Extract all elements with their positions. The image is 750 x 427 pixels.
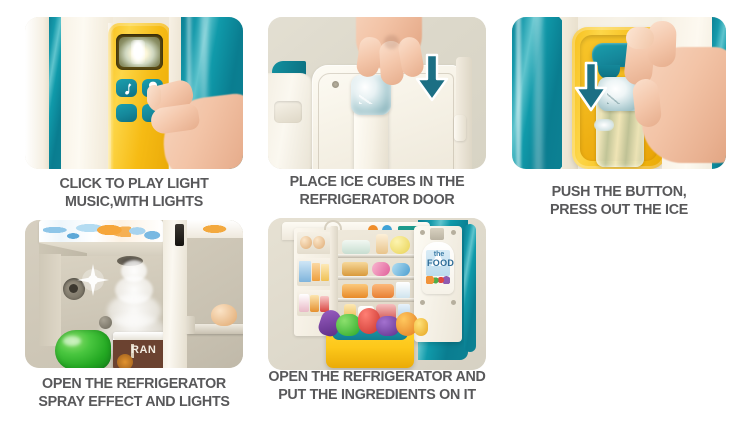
toy-juice-box [312, 263, 320, 281]
right-shelf [187, 324, 243, 334]
feature-collage-sheet: CLICK TO PLAY LIGHT MUSIC,WITH LIGHTS [0, 0, 750, 427]
hand-pressing-button [123, 79, 243, 169]
panel-caption: OPEN THE REFRIGERATOR AND PUT THE INGRED… [260, 368, 495, 403]
toy-green-pepper [55, 330, 111, 368]
shelf-bracket [185, 316, 195, 334]
door-bin-2 [297, 258, 331, 286]
door-left-latch [274, 101, 302, 123]
door-screw [332, 81, 339, 88]
fridge-teal-door-left [512, 17, 566, 169]
toy-yogurt [299, 294, 309, 312]
toy-orange-box [342, 284, 368, 298]
door-screw-tl [420, 230, 425, 235]
panel-place-ice-cubes[interactable]: PLACE ICE CUBES IN THE REFRIGERATOR DOOR [268, 17, 486, 169]
toy-salad-bowl [342, 240, 370, 254]
orange-artwork [95, 221, 131, 239]
door-screw-tr [451, 230, 456, 235]
panel-spray-effect-lights[interactable]: RAN OPEN THE REFRIGERATOR SPRAY EFFECT A… [25, 220, 243, 368]
teal-highlight-1 [516, 17, 521, 169]
fridge-teal-edge [464, 224, 476, 352]
display-light-beam [131, 40, 145, 64]
right-orange-artwork [201, 222, 235, 236]
shelf-1 [338, 254, 414, 258]
pepper-highlight [63, 336, 81, 346]
tub-logo [117, 354, 133, 368]
arrow-down-icon [572, 61, 610, 113]
toy-bread [342, 262, 368, 276]
toy-corn [414, 318, 428, 336]
toy-egg [211, 304, 237, 326]
thumb [355, 36, 382, 79]
arrow-down-icon [414, 53, 450, 103]
panel-photo-push-button [512, 17, 726, 169]
toy-pepper-green [336, 314, 360, 336]
label-text-food: FOOD [427, 258, 451, 268]
ice-artwork [43, 222, 101, 242]
panel-caption: PUSH THE BUTTON, PRESS OUT THE ICE [503, 183, 734, 218]
finger-shadow [384, 35, 399, 49]
panel-photo-put-ingredients: the FOOD [268, 218, 486, 370]
door-bin-1 [297, 232, 331, 254]
display-screen-bezel [116, 34, 163, 70]
freezer-left-wall [39, 254, 61, 346]
label-food-icons [426, 276, 450, 284]
panel-push-button-press-ice[interactable]: PUSH THE BUTTON, PRESS OUT THE ICE [512, 17, 726, 169]
panel-put-ingredients[interactable]: the FOOD [268, 218, 486, 370]
panel-photo-play-light-music [25, 17, 243, 169]
door-label-icon: the FOOD [422, 242, 454, 294]
toy-candy-1 [372, 262, 390, 276]
panel-photo-place-ice-cubes [268, 17, 486, 169]
label-text-the: the [428, 251, 450, 258]
shelf-2 [338, 276, 414, 280]
toy-cup [396, 282, 410, 298]
fingertip [626, 27, 654, 49]
toy-milk-carton [299, 261, 311, 282]
right-graphic-strip [187, 220, 243, 238]
door-right-hinge [454, 115, 466, 141]
fridge-left-edge [25, 17, 51, 169]
toy-melon [390, 236, 410, 254]
fingertip [147, 85, 161, 107]
shelf-3 [338, 298, 414, 302]
toy-egg-1 [300, 236, 312, 249]
right-compartment [187, 220, 243, 368]
freezer-graphic-strip [39, 220, 163, 244]
toy-bottle-1 [376, 234, 388, 254]
toy-candy-2 [392, 263, 410, 276]
panel-highlight [108, 23, 114, 169]
toy-bowl-orange [372, 284, 394, 298]
fridge-door-front [61, 17, 113, 169]
panel-photo-spray-effect: RAN [25, 220, 243, 368]
panel-caption: OPEN THE REFRIGERATOR SPRAY EFFECT AND L… [17, 375, 252, 410]
column-sensor-strip [175, 224, 184, 246]
toy-butter-box [321, 264, 329, 281]
door-screw-br [451, 300, 456, 305]
door-handle-notch [430, 228, 444, 240]
panel-caption: CLICK TO PLAY LIGHT MUSIC,WITH LIGHTS [17, 175, 252, 210]
panel-play-light-music[interactable]: CLICK TO PLAY LIGHT MUSIC,WITH LIGHTS [25, 17, 243, 169]
toy-egg-2 [313, 236, 325, 249]
grey-ball [99, 316, 112, 329]
teal-highlight-2 [534, 17, 543, 169]
panel-caption: PLACE ICE CUBES IN THE REFRIGERATOR DOOR [260, 173, 495, 208]
ice-artwork-right [127, 222, 161, 242]
hand-pressing-lever [608, 21, 726, 169]
toy-vegetable-heap [318, 304, 424, 338]
